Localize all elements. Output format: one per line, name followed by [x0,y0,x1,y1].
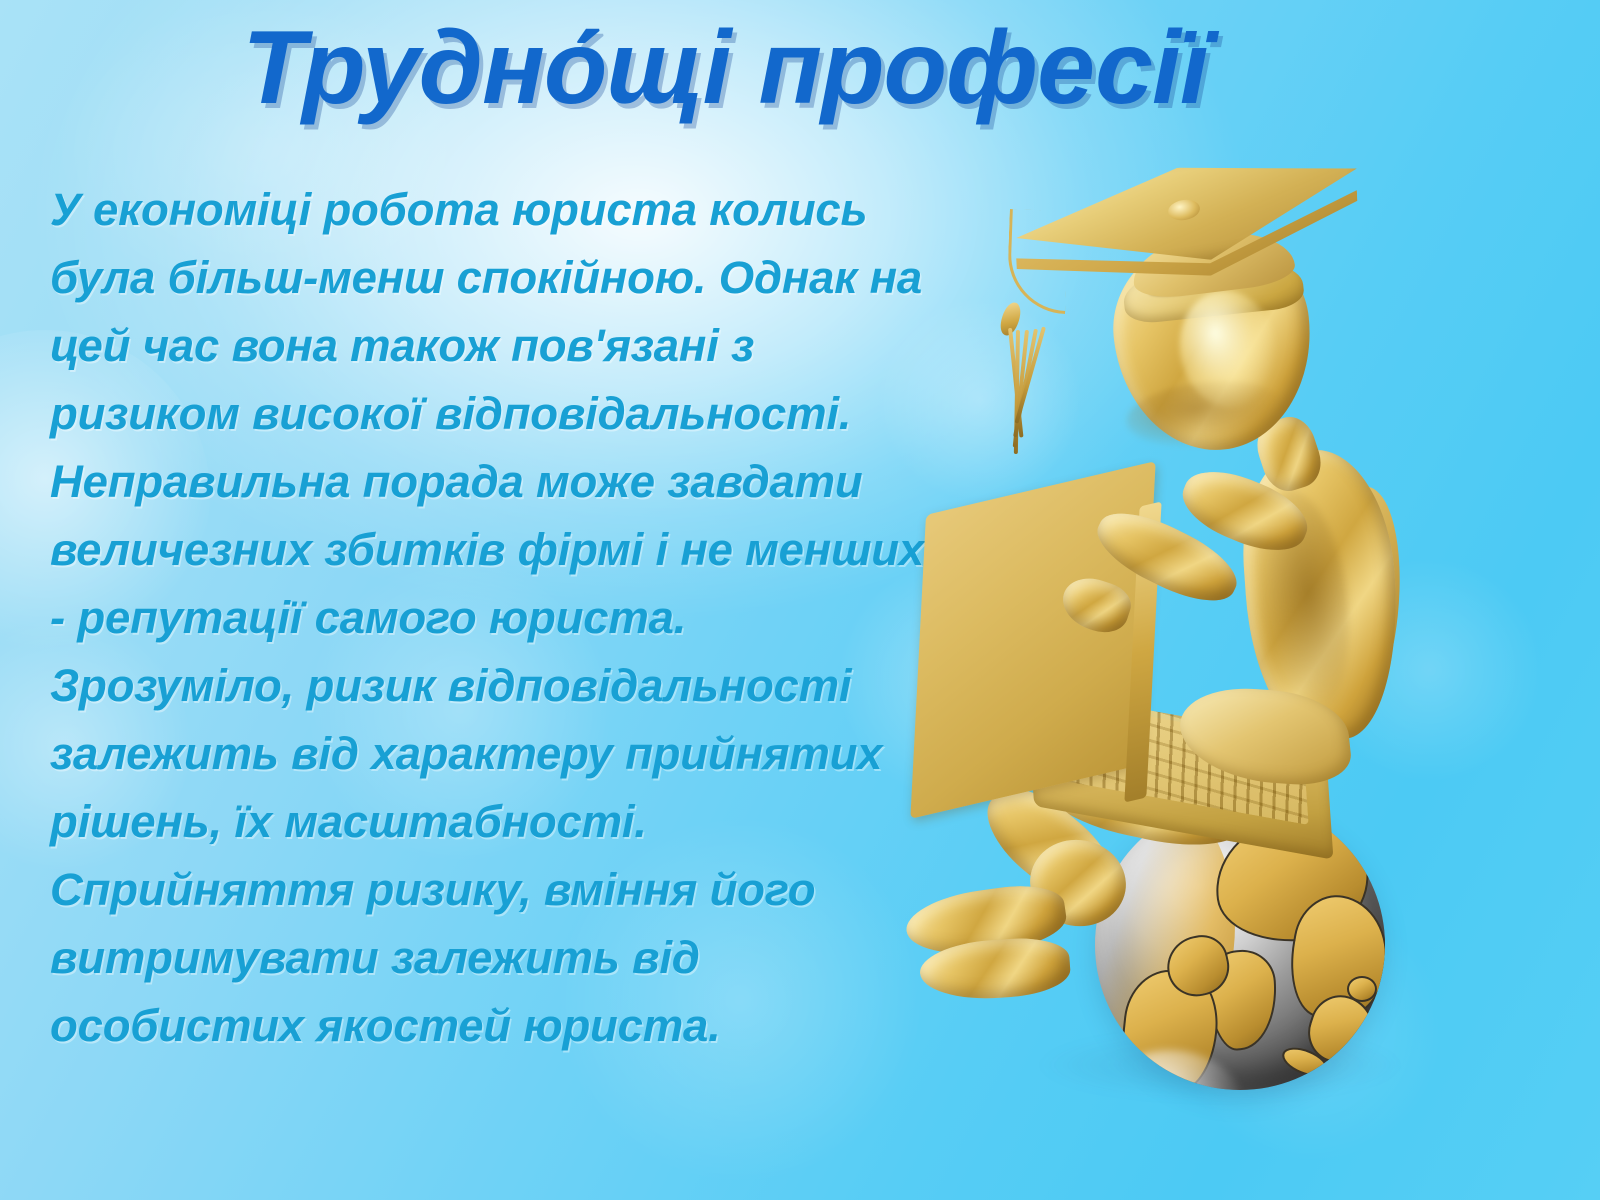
slide-canvas: Трудно́щі професії У економіці робота юр… [0,0,1600,1200]
continent-island [1347,976,1377,1002]
tassel-cord [1006,209,1069,314]
globe-icon [1095,800,1385,1090]
slide-title: Трудно́щі професії [0,14,1600,123]
slide-body-text: У економіці робота юриста колись була бі… [50,176,930,1060]
golden-graduate-illustration [880,150,1500,1100]
